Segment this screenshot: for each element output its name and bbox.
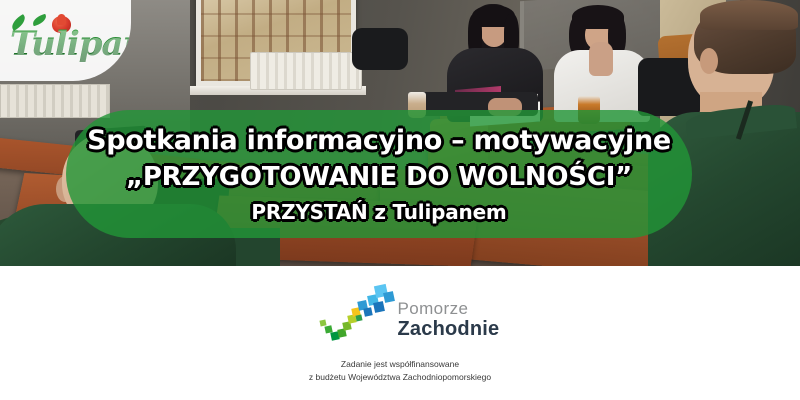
bag xyxy=(352,28,408,70)
person-woman-right-hands xyxy=(589,42,613,76)
logo-line-pomorze: Pomorze xyxy=(398,300,500,317)
tulipan-logo-panel: Tulipan xyxy=(0,0,131,81)
person-man-right-ear xyxy=(700,48,718,74)
poster-graphic: Tulipan Spotkania informacyjno – motywac… xyxy=(0,0,800,400)
tulipan-logo: Tulipan xyxy=(6,16,128,72)
banner-headline-line1: Spotkania informacyjno – motywacyjne xyxy=(87,125,671,156)
banner-headline-line2: „PRZYGOTOWANIE DO WOLNOŚCI” xyxy=(126,162,632,192)
tulipan-logo-text: Tulipan xyxy=(10,24,131,64)
pomorze-zachodnie-mark-icon xyxy=(318,282,396,344)
funding-note-line1: Zadanie jest współfinansowane xyxy=(309,358,491,371)
radiator xyxy=(250,52,362,90)
banner-subtitle: PRZYSTAŃ z Tulipanem xyxy=(251,200,506,224)
logo-line-zachodnie: Zachodnie xyxy=(398,318,500,340)
banner-text-block: Spotkania informacyjno – motywacyjne „PR… xyxy=(66,110,692,238)
funding-note-line2: z budżetu Województwa Zachodniopomorskie… xyxy=(309,371,491,384)
pomorze-zachodnie-logo: Pomorze Zachodnie xyxy=(318,282,483,344)
person-man-right-hair-top xyxy=(700,0,798,30)
footer: Pomorze Zachodnie Zadanie jest współfina… xyxy=(0,266,800,400)
funding-note: Zadanie jest współfinansowane z budżetu … xyxy=(309,358,491,384)
meeting-room-photo: Tulipan Spotkania informacyjno – motywac… xyxy=(0,0,800,266)
pomorze-zachodnie-wordmark: Pomorze Zachodnie xyxy=(398,300,500,340)
